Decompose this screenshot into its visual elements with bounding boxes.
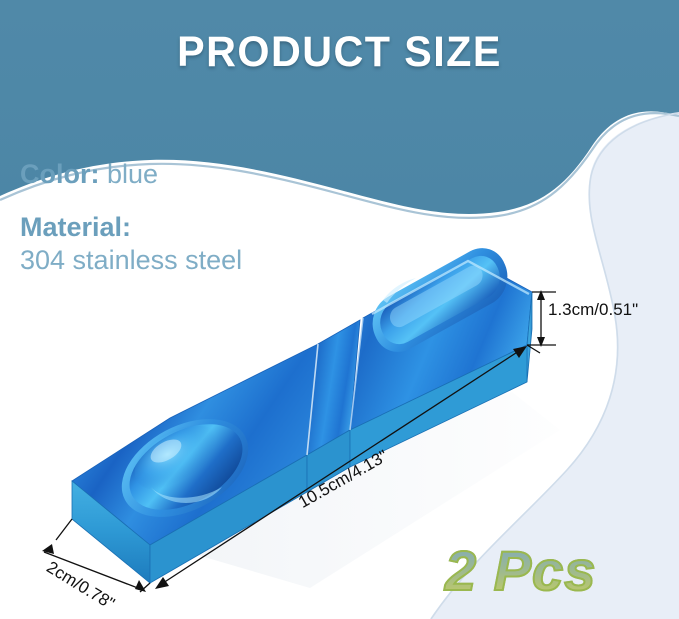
width-arrow-end — [135, 580, 146, 592]
dimension-label-height: 1.3cm/0.51" — [548, 300, 638, 320]
width-arrow-start — [42, 544, 54, 554]
quantity-badge: 2 Pcs — [445, 538, 596, 603]
product-size-infographic: PRODUCT SIZE Color: blue Material: 304 s… — [0, 0, 679, 619]
width-leader-top — [56, 519, 72, 540]
